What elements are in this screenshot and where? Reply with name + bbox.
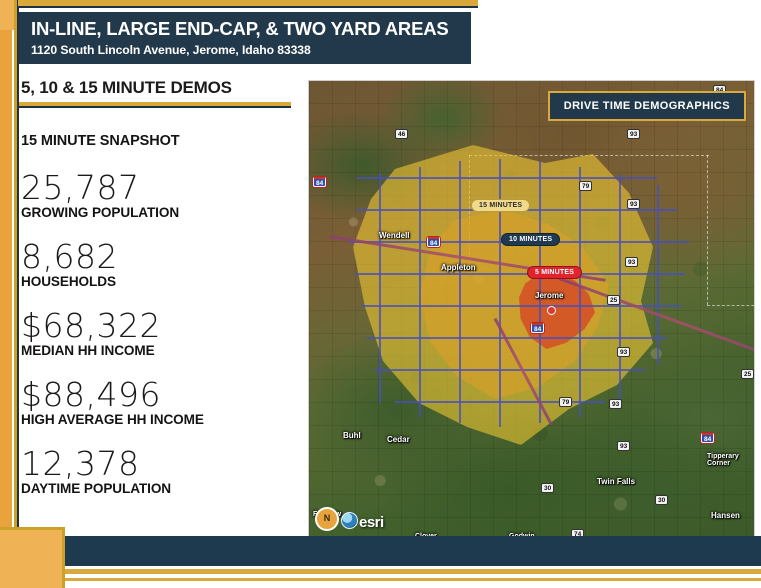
interstate-bar <box>428 237 439 239</box>
stat-label: MEDIAN HH INCOME <box>21 343 296 358</box>
drive-time-map[interactable]: 46 84 93 79 93 93 25 93 25 79 93 93 30 3… <box>308 80 755 552</box>
shield-number: 84 <box>704 436 711 443</box>
stat-label: HOUSEHOLDS <box>21 274 296 289</box>
highway-shield-84-center[interactable]: 84 <box>531 323 544 333</box>
stat-value: 25,787 <box>21 171 296 204</box>
place-label-hansen: Hansen <box>711 511 740 520</box>
footer-gold-rule <box>52 569 761 574</box>
left-dark-rule <box>17 0 19 556</box>
shield-number: 84 <box>316 180 323 187</box>
stat-label: DAYTIME POPULATION <box>21 481 296 496</box>
stat-value: 8,682 <box>21 240 296 273</box>
shield-number: 84 <box>534 326 541 333</box>
drive-time-demographics-badge: DRIVE TIME DEMOGRAPHICS <box>548 91 746 121</box>
highway-shield-25[interactable]: 25 <box>607 295 620 305</box>
highway-shield-84-west[interactable]: 84 <box>427 237 440 247</box>
drive-time-pill-10-minutes[interactable]: 10 MINUTES <box>501 233 560 246</box>
interstate-bar <box>314 177 325 179</box>
highway-shield-84-east[interactable]: 84 <box>701 433 714 443</box>
shield-number: 84 <box>430 240 437 247</box>
highway-shield-93-tf[interactable]: 93 <box>617 441 630 451</box>
highway-shield-79[interactable]: 79 <box>579 181 592 191</box>
stat-label: HIGH AVERAGE HH INCOME <box>21 412 296 427</box>
highway-shield-93-mid[interactable]: 93 <box>627 199 640 209</box>
highway-shield-84-nw[interactable]: 84 <box>313 177 326 187</box>
stat-value: 12,378 <box>21 447 296 480</box>
top-dark-rule <box>18 6 478 8</box>
road-network <box>309 81 754 551</box>
page-title: IN-LINE, LARGE END-CAP, & TWO YARD AREAS <box>31 19 471 38</box>
interstate-bar <box>702 433 713 435</box>
north-arrow-icon: N <box>315 507 339 531</box>
esri-logo-text: esri <box>359 514 384 531</box>
highway-shield-93-mid2[interactable]: 93 <box>625 257 638 267</box>
drive-time-pill-5-minutes[interactable]: 5 MINUTES <box>527 266 582 279</box>
highway-shield-93-sw[interactable]: 93 <box>609 399 622 409</box>
esri-globe-icon <box>341 512 358 529</box>
footer-gold-rule2 <box>52 578 761 581</box>
highway-shield-93-top[interactable]: 93 <box>627 129 640 139</box>
highway-shield-46[interactable]: 46 <box>395 129 408 139</box>
highway-shield-25-right[interactable]: 25 <box>741 369 754 379</box>
place-label-buhl: Buhl <box>343 431 361 440</box>
header-title-card: IN-LINE, LARGE END-CAP, & TWO YARD AREAS… <box>19 12 471 64</box>
snapshot-label: 15 MINUTE SNAPSHOT <box>21 133 296 149</box>
section-heading: 5, 10 & 15 MINUTE DEMOS <box>21 78 232 98</box>
stat-households: 8,682 HOUSEHOLDS <box>21 240 296 289</box>
highway-shield-79-low[interactable]: 79 <box>559 397 572 407</box>
left-gold-border <box>0 0 12 556</box>
highway-shield-93-low[interactable]: 93 <box>617 347 630 357</box>
bottom-left-gold-block <box>0 527 65 588</box>
stats-column: 15 MINUTE SNAPSHOT 25,787 GROWING POPULA… <box>21 133 296 516</box>
page-address: 1120 South Lincoln Avenue, Jerome, Idaho… <box>31 43 471 57</box>
stat-daytime-population: 12,378 DAYTIME POPULATION <box>21 447 296 496</box>
highway-shield-30-right[interactable]: 30 <box>655 495 668 505</box>
highway-shield-30[interactable]: 30 <box>541 483 554 493</box>
place-label-jerome: Jerome <box>535 291 563 300</box>
stat-value: $68,322 <box>21 309 296 342</box>
place-label-twin-falls: Twin Falls <box>597 477 635 486</box>
stat-median-hh-income: $68,322 MEDIAN HH INCOME <box>21 309 296 358</box>
interstate-bar <box>532 323 543 325</box>
stat-growing-population: 25,787 GROWING POPULATION <box>21 171 296 220</box>
jerome-location-marker <box>547 306 556 315</box>
place-label-cedar: Cedar <box>387 435 410 444</box>
stat-value: $88,496 <box>21 378 296 411</box>
drive-time-pill-15-minutes[interactable]: 15 MINUTES <box>471 199 530 212</box>
slide-root: IN-LINE, LARGE END-CAP, & TWO YARD AREAS… <box>0 0 761 588</box>
place-label-appleton: Appleton <box>441 263 476 272</box>
left-gold-tab <box>0 0 14 30</box>
section-dark-rule <box>19 106 291 108</box>
stat-label: GROWING POPULATION <box>21 205 296 220</box>
place-label-wendell: Wendell <box>379 231 410 240</box>
stat-high-average-hh-income: $88,496 HIGH AVERAGE HH INCOME <box>21 378 296 427</box>
footer-bar <box>52 536 761 566</box>
place-label-tipperary-corner: Tipperary Corner <box>707 453 747 468</box>
